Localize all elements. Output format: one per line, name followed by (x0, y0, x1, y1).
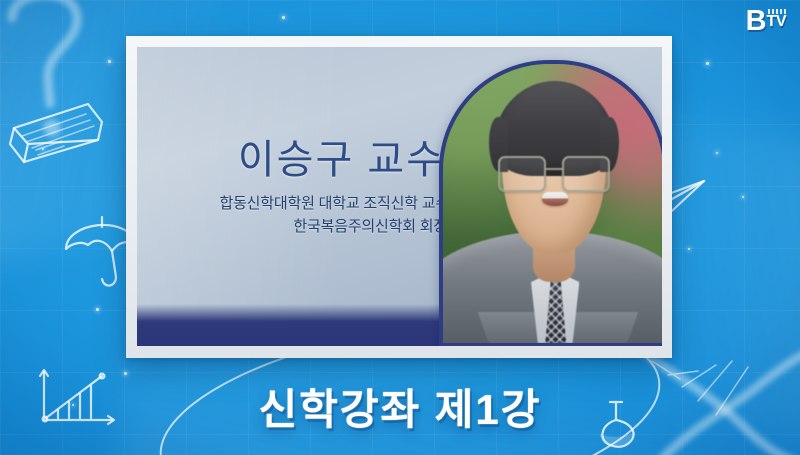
book-icon (2, 92, 114, 170)
speaker-card-inner: 이승구 교수 합동신학대학원 대학교 조직신학 교수 한국복음주의신학회 회장 (137, 47, 662, 346)
portrait-overlay (443, 64, 662, 343)
speaker-affiliation-line-1: 합동신학대학원 대학교 조직신학 교수 (155, 193, 449, 216)
lecture-title-banner: 신학강좌 제1강 (0, 376, 800, 437)
sparkle-dot (742, 196, 744, 198)
sparkle-dot (716, 152, 718, 154)
sparkle-dot (706, 62, 709, 65)
sparkle-dot (108, 60, 111, 63)
sparkle-dot (688, 248, 690, 250)
flask-icon (594, 398, 638, 450)
sparkle-dot (124, 372, 127, 375)
sparkle-dot (42, 148, 44, 150)
lecture-title-text: 신학강좌 제1강 (253, 376, 548, 437)
sparkle-dot (96, 308, 99, 311)
portrait-photo (443, 64, 662, 343)
speaker-text-block: 이승구 교수 합동신학대학원 대학교 조직신학 교수 한국복음주의신학회 회장 (155, 139, 449, 238)
speaker-name: 이승구 교수 (155, 139, 449, 181)
bar-chart-icon (36, 368, 118, 430)
btv-logo: B TV (746, 8, 786, 36)
speaker-card: 이승구 교수 합동신학대학원 대학교 조직신학 교수 한국복음주의신학회 회장 (126, 36, 672, 358)
speaker-portrait (439, 60, 662, 346)
sparkle-dot (282, 16, 285, 19)
speaker-affiliation-line-2: 한국복음주의신학회 회장 (155, 216, 449, 239)
question-mark-icon (0, 0, 144, 152)
title-card-screen: 이승구 교수 합동신학대학원 대학교 조직신학 교수 한국복음주의신학회 회장 (0, 0, 800, 455)
sparkle-dot (72, 404, 74, 406)
btv-logo-tv: TV (767, 14, 786, 30)
btv-logo-b: B (746, 8, 766, 36)
